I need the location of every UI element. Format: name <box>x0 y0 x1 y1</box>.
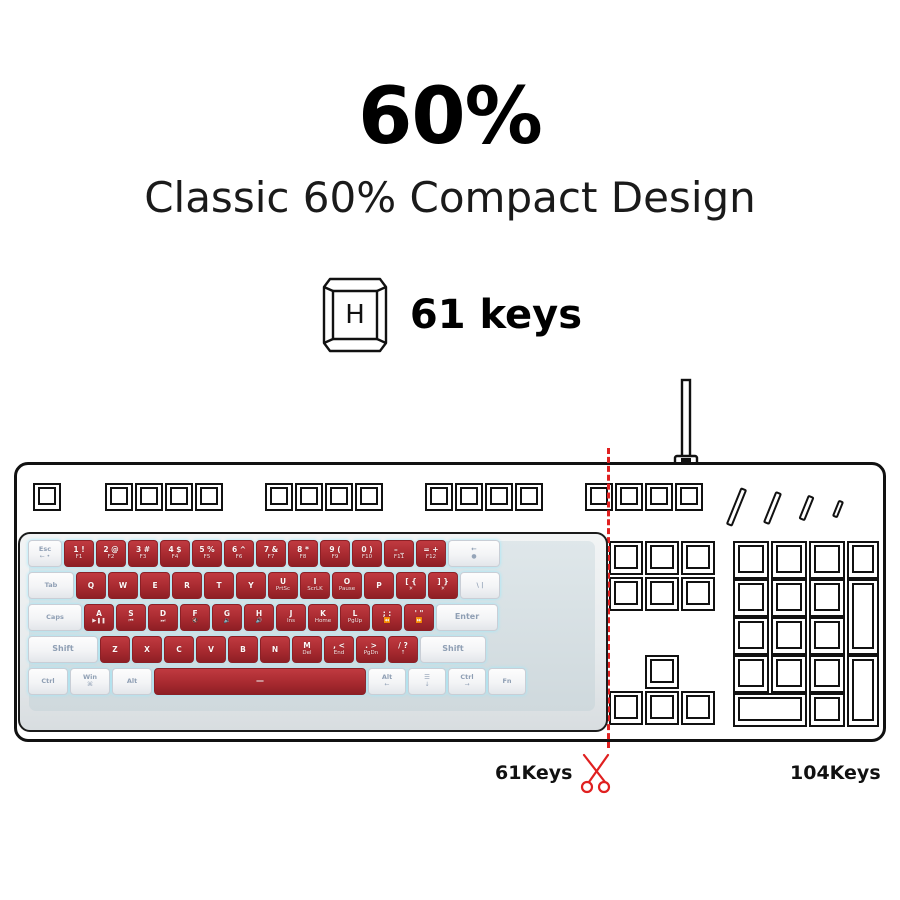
key-capslock[interactable]: Caps <box>28 604 82 631</box>
key-b[interactable]: B <box>228 636 258 663</box>
key-s[interactable]: S⏮ <box>116 604 146 631</box>
key-secondary-legend: Ins <box>287 619 295 625</box>
key-secondary-legend: ● <box>471 554 476 560</box>
key-period[interactable]: . >PgDn <box>356 636 386 663</box>
key-p[interactable]: P <box>364 572 394 599</box>
key-primary-legend: U <box>280 578 286 586</box>
key-f[interactable]: F🔇 <box>180 604 210 631</box>
key-primary-legend: B <box>240 646 246 654</box>
outline-key-numpad <box>771 579 807 617</box>
key-primary-legend: — <box>256 677 264 685</box>
key-primary-legend: Caps <box>46 614 64 621</box>
outline-key-numpad <box>809 693 845 727</box>
key-primary-legend: . > <box>365 642 377 650</box>
key-primary-legend: ' " <box>415 610 424 618</box>
key-primary-legend: O <box>344 578 350 586</box>
key-primary-legend: – _ <box>394 546 404 554</box>
key-secondary-legend: ⏮ <box>129 619 134 625</box>
key-secondary-legend: F8 <box>300 555 307 561</box>
key-h[interactable]: H🔊 <box>244 604 274 631</box>
caption-104keys: 104Keys <box>790 762 881 784</box>
key-primary-legend: N <box>272 646 278 654</box>
key-primary-legend: 5 % <box>199 546 214 554</box>
key-comma[interactable]: , <End <box>324 636 354 663</box>
outline-key <box>455 483 483 511</box>
key-primary-legend: ☰ <box>424 674 430 681</box>
outline-key <box>681 577 715 611</box>
key-5[interactable]: 5 %F5 <box>192 540 222 567</box>
outline-key <box>105 483 133 511</box>
key-secondary-legend: ↑ <box>401 651 406 657</box>
key-tab[interactable]: Tab <box>28 572 74 599</box>
key-enter[interactable]: Enter <box>436 604 498 631</box>
key-menu[interactable]: ☰↓ <box>408 668 446 695</box>
key-c[interactable]: C <box>164 636 194 663</box>
key-j[interactable]: JIns <box>276 604 306 631</box>
key-primary-legend: E <box>152 582 157 590</box>
key-primary-legend: Q <box>88 582 94 590</box>
outline-key <box>135 483 163 511</box>
key-primary-legend: 9 ( <box>329 546 340 554</box>
caption-61keys: 61Keys <box>495 762 572 784</box>
key-8[interactable]: 8 *F8 <box>288 540 318 567</box>
key-m[interactable]: MDel <box>292 636 322 663</box>
key-secondary-legend: End <box>334 651 344 657</box>
key-k[interactable]: KHome <box>308 604 338 631</box>
key-primary-legend: W <box>119 582 127 590</box>
outline-key-numpad <box>733 617 769 655</box>
key-secondary-legend: 🔇 <box>192 619 199 625</box>
key-primary-legend: Shift <box>52 645 74 653</box>
sixty-percent-keyboard: Esc← •1 !F12 @F23 #F34 $F45 %F56 ^F67 &F… <box>18 532 608 732</box>
key-secondary-legend: F9 <box>332 555 339 561</box>
key-primary-legend: Esc <box>39 546 51 553</box>
key-primary-legend: R <box>184 582 190 590</box>
key-6[interactable]: 6 ^F6 <box>224 540 254 567</box>
key-primary-legend: H <box>256 610 262 618</box>
key-a[interactable]: A▶❚❚ <box>84 604 114 631</box>
outline-key-numpad-plus <box>847 579 879 655</box>
key-secondary-legend: Pause <box>339 587 355 593</box>
key-secondary-legend: F10 <box>362 555 372 561</box>
outline-key <box>645 483 673 511</box>
key-primary-legend: ; : <box>383 610 392 618</box>
key-4[interactable]: 4 $F4 <box>160 540 190 567</box>
key-primary-legend: L <box>353 610 358 618</box>
key-primary-legend: P <box>376 582 382 590</box>
key-q[interactable]: Q <box>76 572 106 599</box>
key-rctrl[interactable]: Ctrl→ <box>448 668 486 695</box>
key-secondary-legend: F7 <box>268 555 275 561</box>
outline-key <box>195 483 223 511</box>
keycap-icon: H <box>318 275 392 355</box>
key-secondary-legend: ☀ <box>409 587 414 593</box>
key-secondary-legend: ⏭ <box>161 619 166 625</box>
key-v[interactable]: V <box>196 636 226 663</box>
key-primary-legend: 8 * <box>297 546 309 554</box>
key-secondary-legend: F2 <box>108 555 115 561</box>
key-lbracket[interactable]: [ {☀ <box>396 572 426 599</box>
key-primary-legend: [ { <box>405 578 416 586</box>
key-primary-legend: A <box>96 610 102 618</box>
outline-key <box>325 483 353 511</box>
key-l[interactable]: LPgUp <box>340 604 370 631</box>
key-esc[interactable]: Esc← • <box>28 540 62 567</box>
key-primary-legend: 4 $ <box>168 546 181 554</box>
scissors-icon <box>578 752 618 794</box>
key-backspace[interactable]: ←● <box>448 540 500 567</box>
key-secondary-legend: F11 <box>394 555 404 561</box>
key-secondary-legend: F12 <box>426 555 436 561</box>
key-o[interactable]: OPause <box>332 572 362 599</box>
key-secondary-legend: F5 <box>204 555 211 561</box>
key-slash[interactable]: / ?↑ <box>388 636 418 663</box>
outline-key-numpad <box>771 655 807 693</box>
key-secondary-legend: ← <box>384 682 389 688</box>
outline-key-numpad <box>771 617 807 655</box>
key-primary-legend: 3 # <box>136 546 150 554</box>
outline-key <box>355 483 383 511</box>
key-n[interactable]: N <box>260 636 290 663</box>
page-subtitle: Classic 60% Compact Design <box>0 175 900 221</box>
key-primary-legend: Alt <box>127 678 137 685</box>
outline-key <box>681 541 715 575</box>
key-primary-legend: T <box>216 582 221 590</box>
outline-key <box>515 483 543 511</box>
led-indicator-icon <box>832 500 844 519</box>
key-primary-legend: D <box>160 610 166 618</box>
outline-key-numpad <box>733 655 769 693</box>
key-equal[interactable]: = +F12 <box>416 540 446 567</box>
outline-key <box>609 541 643 575</box>
outline-key <box>425 483 453 511</box>
key-quote[interactable]: ' "⏩ <box>404 604 434 631</box>
key-primary-legend: Ctrl <box>460 674 473 681</box>
outline-key-numpad-enter <box>847 655 879 727</box>
outline-key-arrow-down <box>645 691 679 725</box>
key-primary-legend: \ | <box>476 582 483 589</box>
key-secondary-legend: PgDn <box>364 651 379 657</box>
key-r[interactable]: R <box>172 572 202 599</box>
key-secondary-legend: PgUp <box>348 619 362 625</box>
key-secondary-legend: ↓ <box>424 682 429 688</box>
outline-key <box>615 483 643 511</box>
key-secondary-legend: 🔊 <box>256 619 263 625</box>
key-y[interactable]: Y <box>236 572 266 599</box>
outline-key <box>485 483 513 511</box>
key-0[interactable]: 0 )F10 <box>352 540 382 567</box>
outline-key <box>645 577 679 611</box>
key-primary-legend: X <box>144 646 150 654</box>
outline-key-numpad <box>809 541 845 579</box>
outline-key-numpad <box>809 655 845 693</box>
key-primary-legend: I <box>314 578 317 586</box>
key-2[interactable]: 2 @F2 <box>96 540 126 567</box>
key-primary-legend: 6 ^ <box>232 546 246 554</box>
key-secondary-legend: PrtSc <box>276 587 290 593</box>
key-minus[interactable]: – _F11 <box>384 540 414 567</box>
key-secondary-legend: ⌘ <box>87 682 93 688</box>
key-secondary-legend: F4 <box>172 555 179 561</box>
key-space[interactable]: — <box>154 668 366 695</box>
outline-key <box>295 483 323 511</box>
outline-key-numpad <box>847 541 879 579</box>
infographic-canvas: 60% Classic 60% Compact Design H 61 keys <box>0 0 900 900</box>
key-x[interactable]: X <box>132 636 162 663</box>
key-e[interactable]: E <box>140 572 170 599</box>
key-secondary-legend: ⏩ <box>416 619 423 625</box>
key-secondary-legend: ☀ <box>441 587 446 593</box>
outline-key <box>675 483 703 511</box>
key-backslash[interactable]: \ | <box>460 572 500 599</box>
key-primary-legend: Tab <box>45 582 58 589</box>
key-primary-legend: , < <box>333 642 345 650</box>
key-lctrl[interactable]: Ctrl <box>28 668 68 695</box>
key-primary-legend: 1 ! <box>73 546 84 554</box>
key-primary-legend: F <box>192 610 197 618</box>
key-primary-legend: V <box>208 646 214 654</box>
keyboard-illustration: Esc← •1 !F12 @F23 #F34 $F45 %F56 ^F67 &F… <box>0 378 900 708</box>
key-secondary-legend: ▶❚❚ <box>92 619 105 625</box>
led-indicator-icon <box>798 495 814 522</box>
key-secondary-legend: ⏪ <box>384 619 391 625</box>
key-primary-legend: M <box>303 642 310 650</box>
key-3[interactable]: 3 #F3 <box>128 540 158 567</box>
outline-key-arrow-right <box>681 691 715 725</box>
keycount-badge: H 61 keys <box>0 275 900 355</box>
key-primary-legend: Z <box>112 646 117 654</box>
key-rbracket[interactable]: ] }☀ <box>428 572 458 599</box>
key-secondary-legend: → <box>464 682 469 688</box>
outline-key <box>265 483 293 511</box>
outline-key-numpad <box>733 541 769 579</box>
key-9[interactable]: 9 (F9 <box>320 540 350 567</box>
key-i[interactable]: IScrLK <box>300 572 330 599</box>
key-primary-legend: G <box>224 610 230 618</box>
outline-key-numpad <box>771 541 807 579</box>
key-1[interactable]: 1 !F1 <box>64 540 94 567</box>
led-indicator-icon <box>763 491 782 525</box>
outline-key <box>645 541 679 575</box>
key-win[interactable]: Win⌘ <box>70 668 110 695</box>
key-secondary-legend: F6 <box>236 555 243 561</box>
key-primary-legend: Y <box>248 582 253 590</box>
key-lshift[interactable]: Shift <box>28 636 98 663</box>
outline-key-numpad <box>733 579 769 617</box>
key-secondary-legend: F1 <box>76 555 83 561</box>
outline-key-numpad-zero <box>733 693 807 727</box>
key-g[interactable]: G🔉 <box>212 604 242 631</box>
outline-key <box>33 483 61 511</box>
key-secondary-legend: ScrLK <box>307 587 322 593</box>
key-z[interactable]: Z <box>100 636 130 663</box>
led-indicator-icon <box>726 487 747 527</box>
outline-key-arrow-left <box>609 691 643 725</box>
key-primary-legend: Fn <box>502 678 511 685</box>
key-secondary-legend: F3 <box>140 555 147 561</box>
key-secondary-legend: Del <box>302 651 311 657</box>
outline-key-numpad <box>809 617 845 655</box>
page-title: 60% <box>0 78 900 156</box>
key-primary-legend: ] } <box>437 578 448 586</box>
key-u[interactable]: UPrtSc <box>268 572 298 599</box>
key-primary-legend: C <box>176 646 182 654</box>
key-secondary-legend: ← • <box>40 554 50 560</box>
key-w[interactable]: W <box>108 572 138 599</box>
key-lalt[interactable]: Alt <box>112 668 152 695</box>
key-primary-legend: ← <box>471 546 476 553</box>
key-semicolon[interactable]: ; :⏪ <box>372 604 402 631</box>
key-7[interactable]: 7 &F7 <box>256 540 286 567</box>
key-rshift[interactable]: Shift <box>420 636 486 663</box>
key-primary-legend: / ? <box>398 642 408 650</box>
key-primary-legend: 7 & <box>264 546 278 554</box>
key-primary-legend: Alt <box>382 674 392 681</box>
key-primary-legend: S <box>128 610 133 618</box>
key-primary-legend: Ctrl <box>41 678 54 685</box>
usb-cable-icon <box>664 378 708 470</box>
key-primary-legend: 0 ) <box>361 546 372 554</box>
key-ralt[interactable]: Alt← <box>368 668 406 695</box>
outline-key <box>165 483 193 511</box>
outline-key-numpad <box>809 579 845 617</box>
keycount-label: 61 keys <box>410 295 582 335</box>
key-primary-legend: K <box>320 610 326 618</box>
key-primary-legend: 2 @ <box>103 546 118 554</box>
key-secondary-legend: Home <box>315 619 331 625</box>
key-primary-legend: J <box>290 610 293 618</box>
outline-key <box>609 577 643 611</box>
key-primary-legend: Shift <box>442 645 464 653</box>
key-secondary-legend: 🔉 <box>224 619 231 625</box>
key-primary-legend: = + <box>423 546 438 554</box>
outline-key-arrow-up <box>645 655 679 689</box>
keycap-glyph: H <box>345 300 365 330</box>
key-fn[interactable]: Fn <box>488 668 526 695</box>
key-d[interactable]: D⏭ <box>148 604 178 631</box>
key-primary-legend: Enter <box>455 613 479 621</box>
key-primary-legend: Win <box>83 674 97 681</box>
key-t[interactable]: T <box>204 572 234 599</box>
